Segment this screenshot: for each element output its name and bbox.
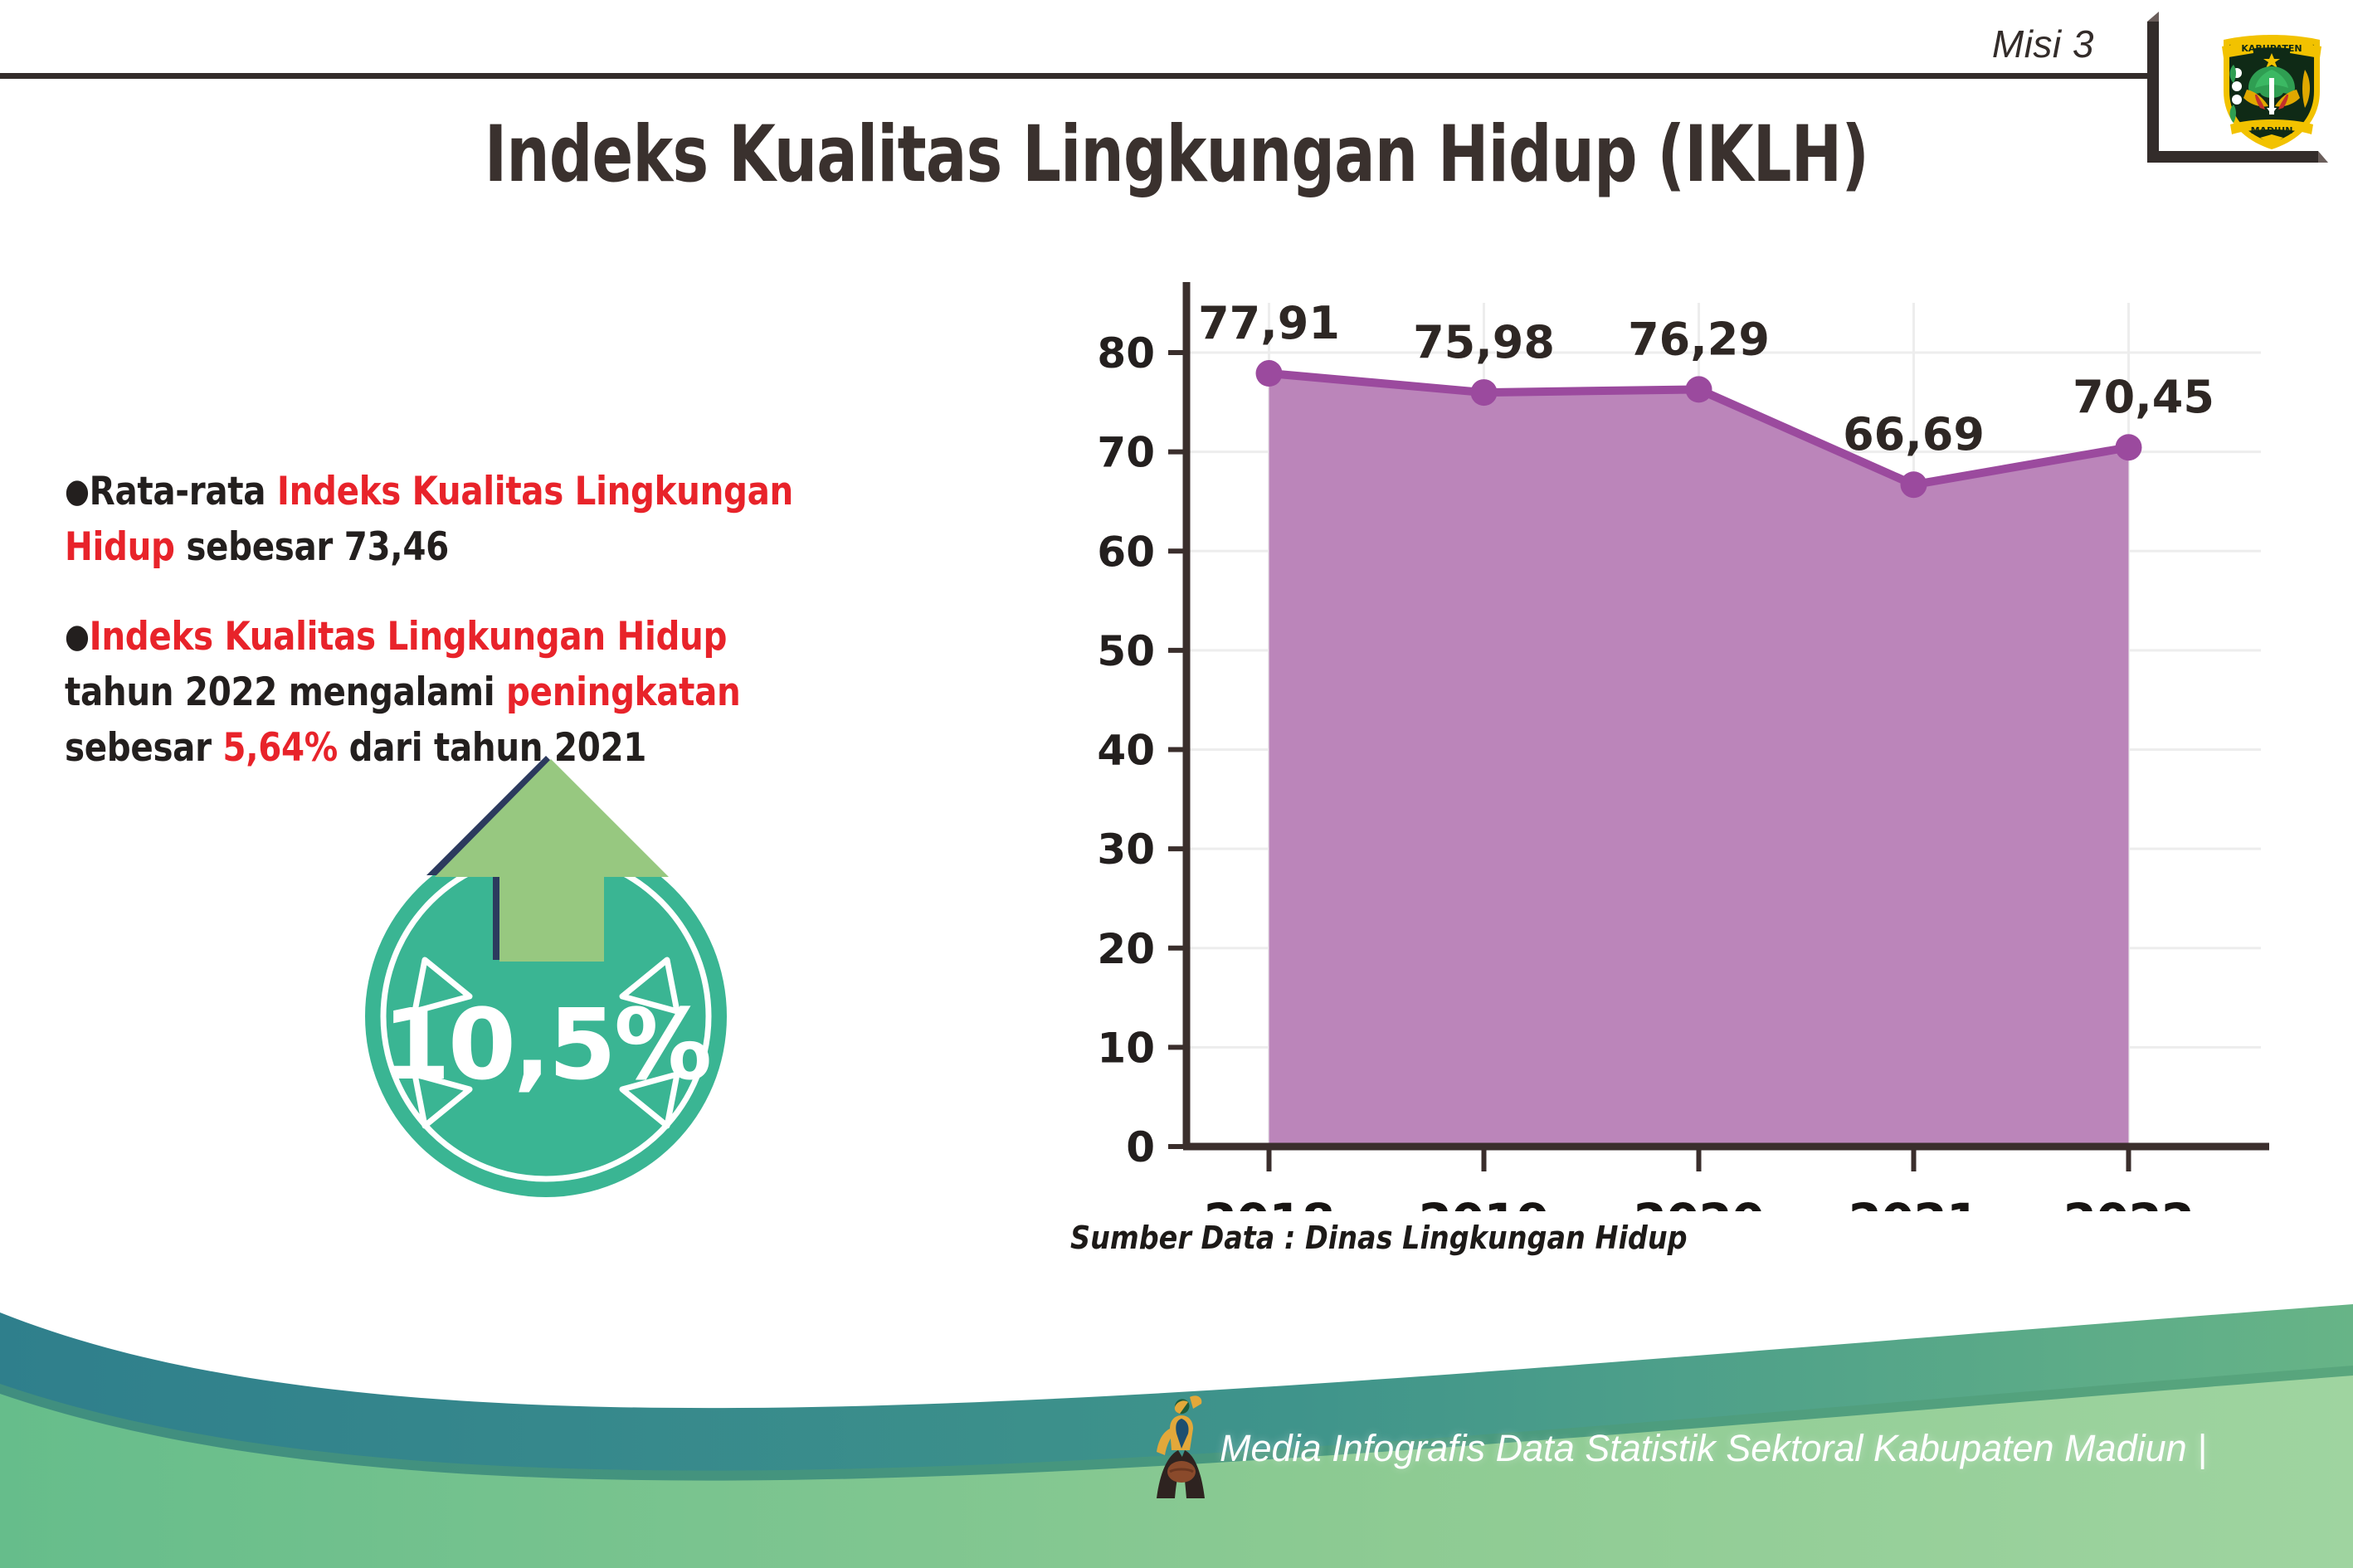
chart-svg: 01020304050607080 20182019202020212022 7… — [979, 274, 2273, 1211]
bullet-marker-icon: ● — [65, 472, 90, 510]
statistik-mascot-icon — [1138, 1392, 1225, 1508]
data-marker — [2116, 434, 2142, 460]
y-tick-label: 40 — [1097, 727, 1155, 775]
area-fill — [1269, 373, 2129, 1147]
y-tick-label: 20 — [1097, 925, 1155, 973]
kabupaten-madiun-crest-icon: KABUPATEN MADIUN — [2214, 28, 2330, 153]
x-tick-label: 2018 — [1204, 1193, 1334, 1211]
bracket-horizontal — [2147, 151, 2318, 163]
bracket-vertical — [2147, 22, 2159, 161]
value-label: 70,45 — [2073, 371, 2214, 423]
data-marker — [1471, 379, 1498, 406]
iklh-area-chart: 01020304050607080 20182019202020212022 7… — [979, 274, 2273, 1211]
page-footer: Media Infografis Data Statistik Sektoral… — [0, 1294, 2353, 1568]
data-marker — [1256, 360, 1283, 387]
page-title: Indeks Kualitas Lingkungan Hidup (IKLH) — [259, 110, 2094, 200]
x-tick-label: 2022 — [2063, 1193, 2194, 1211]
x-tick-label: 2021 — [1849, 1193, 1979, 1211]
header-divider — [0, 73, 2149, 79]
logo-bracket-frame: KABUPATEN MADIUN — [2147, 22, 2353, 163]
value-label: 76,29 — [1628, 313, 1770, 365]
y-tick-label: 10 — [1097, 1024, 1155, 1072]
y-tick-label: 60 — [1097, 528, 1155, 576]
bullet-1-text: Rata-rata Indeks Kualitas Lingkungan Hid… — [65, 469, 793, 570]
y-tick-label: 30 — [1097, 825, 1155, 874]
increase-badge: 10,5% — [322, 751, 770, 1199]
insight-bullet-1: ●Rata-rata Indeks Kualitas Lingkungan Hi… — [65, 465, 835, 575]
plain-text: tahun 2022 mengalami — [65, 670, 506, 715]
highlight-text: Indeks Kualitas Lingkungan Hidup — [90, 614, 727, 660]
plain-text: sebesar — [65, 725, 222, 771]
highlight-text: 5,64% — [222, 725, 338, 771]
y-tick-label: 80 — [1097, 329, 1155, 377]
x-tick-label: 2019 — [1419, 1193, 1549, 1211]
x-tick-label: 2020 — [1634, 1193, 1764, 1211]
bullet-2-text: Indeks Kualitas Lingkungan Hidup tahun 2… — [65, 614, 740, 770]
plain-text: sebesar 73,46 — [175, 524, 449, 570]
bullet-marker-icon: ● — [65, 617, 90, 655]
data-marker — [1686, 376, 1712, 402]
footer-caption: Media Infografis Data Statistik Sektoral… — [1220, 1427, 2207, 1470]
value-label: 66,69 — [1843, 408, 1985, 460]
arrow-up-icon — [421, 751, 670, 967]
value-label: 77,91 — [1198, 297, 1340, 349]
crest-top-text: KABUPATEN — [2241, 43, 2302, 54]
data-marker — [1901, 471, 1927, 498]
value-label: 75,98 — [1413, 316, 1555, 368]
badge-percentage: 10,5% — [339, 987, 753, 1102]
chart-x-tick-labels: 20182019202020212022 — [1204, 1193, 2194, 1211]
y-tick-label: 70 — [1097, 429, 1155, 477]
chart-y-tick-labels: 01020304050607080 — [1097, 329, 1155, 1171]
y-tick-label: 50 — [1097, 627, 1155, 675]
chart-area-series — [1269, 373, 2129, 1147]
chart-source-note: Sumber Data : Dinas Lingkungan Hidup — [1070, 1220, 1688, 1256]
plain-text: Rata-rata — [90, 469, 277, 514]
y-tick-label: 0 — [1126, 1123, 1155, 1171]
mission-label: Misi 3 — [1992, 22, 2094, 66]
highlight-text: peningkatan — [506, 670, 740, 715]
